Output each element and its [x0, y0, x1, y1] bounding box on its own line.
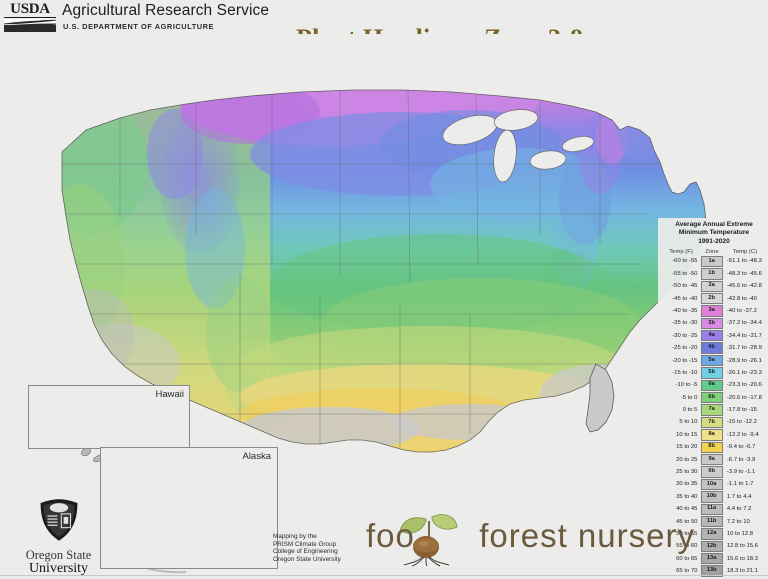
legend-temp-c: -6.7 to -3.9	[723, 457, 766, 463]
legend-zone-cell: 11b	[700, 516, 722, 527]
legend-temp-f: -10 to -5	[662, 382, 700, 388]
legend-temp-c: -37.2 to -34.4	[723, 320, 766, 326]
legend-temp-c: 15.6 to 18.3	[723, 556, 766, 562]
legend-row: 15 to 208b-9.4 to -6.7	[660, 441, 768, 453]
legend-zone-cell: 10b	[700, 491, 722, 502]
legend-temp-c: -20.6 to -17.8	[723, 395, 766, 401]
osu-name-line2: University	[6, 562, 111, 576]
legend-header-celsius: Temp (C)	[724, 249, 766, 255]
legend-temp-c: -9.4 to -6.7	[723, 444, 766, 450]
legend-row: -55 to -501b-48.3 to -45.6	[660, 268, 768, 280]
oregon-state-logo: Oregon State University	[6, 497, 111, 571]
legend-temp-c: -40 to -37.2	[723, 308, 766, 314]
legend-zone-swatch: 6a	[701, 380, 723, 391]
legend-row: -10 to -56a-23.3 to -20.6	[660, 379, 768, 391]
credit-line-4: Oregon State University	[273, 556, 341, 564]
legend-temp-c: -48.3 to -45.6	[723, 271, 766, 277]
hawaii-inset-box: Hawaii	[28, 385, 190, 449]
legend-temp-f: -25 to -20	[662, 345, 700, 351]
legend-temp-c: 18.3 to 21.1	[723, 568, 766, 574]
osu-shield-icon	[36, 497, 82, 543]
legend-temp-c: 4.4 to 7.2	[723, 506, 766, 512]
legend-temp-f: -45 to -40	[662, 296, 700, 302]
legend-temp-f: -40 to -35	[662, 308, 700, 314]
legend-zone-swatch: 1b	[701, 268, 723, 279]
legend-zone-swatch: 10b	[701, 491, 723, 502]
legend-row: -30 to -254a-34.4 to -31.7	[660, 330, 768, 342]
credit-line-1: Mapping by the	[273, 533, 341, 541]
legend-temp-f: 35 to 40	[662, 494, 700, 500]
legend-zone-cell: 8a	[700, 429, 722, 440]
legend-row: 5 to 107b-15 to -12.2	[660, 416, 768, 428]
usda-wordmark: USDA	[4, 2, 56, 18]
legend-zone-swatch: 2a	[701, 281, 723, 292]
legend-header-zone: Zone	[700, 249, 724, 255]
legend-zone-swatch: 12a	[701, 528, 723, 539]
legend-zone-swatch: 12b	[701, 541, 723, 552]
legend-zone-cell: 1a	[700, 256, 722, 267]
legend-zone-swatch: 9b	[701, 466, 723, 477]
legend-temp-c: 12.8 to 15.6	[723, 543, 766, 549]
legend-temp-c: -42.8 to -40	[723, 296, 766, 302]
legend-zone-swatch: 5b	[701, 367, 723, 378]
legend-zone-cell: 11a	[700, 504, 722, 515]
legend-zone-swatch: 4b	[701, 342, 723, 353]
legend-zone-cell: 12b	[700, 541, 722, 552]
legend-zone-swatch: 8a	[701, 429, 723, 440]
credit-line-2: PRISM Climate Group	[273, 541, 341, 549]
legend-zone-cell: 7a	[700, 404, 722, 415]
legend-row: -50 to -452a-45.6 to -42.8	[660, 280, 768, 292]
legend-zone-swatch: 8b	[701, 442, 723, 453]
legend-zone-cell: 3a	[700, 305, 722, 316]
legend-temp-c: -51.1 to -48.3	[723, 258, 766, 264]
legend-temp-f: -30 to -25	[662, 333, 700, 339]
legend-temp-c: 7.2 to 10	[723, 519, 766, 525]
legend-temp-c: -15 to -12.2	[723, 419, 766, 425]
legend-temp-f: 20 to 25	[662, 457, 700, 463]
legend-row: 20 to 259a-6.7 to -3.9	[660, 453, 768, 465]
legend-row: 10 to 158a-12.2 to -9.4	[660, 429, 768, 441]
hawaii-inset-label: Hawaii	[155, 389, 184, 400]
legend-zone-cell: 3b	[700, 318, 722, 329]
legend-zone-cell: 8b	[700, 442, 722, 453]
legend-temp-f: -60 to -55	[662, 258, 700, 264]
legend-row: -45 to -402b-42.8 to -40	[660, 292, 768, 304]
legend-header-fahrenheit: Temp (F)	[662, 249, 700, 255]
legend-zone-cell: 6b	[700, 392, 722, 403]
legend-temp-c: -34.4 to -31.7	[723, 333, 766, 339]
credit-line-3: College of Engineering	[273, 548, 341, 556]
legend-row: -25 to -204b-31.7 to -28.9	[660, 342, 768, 354]
legend-zone-swatch: 7b	[701, 417, 723, 428]
legend-row: -20 to -155a-28.9 to -26.1	[660, 354, 768, 366]
legend-temp-c: -12.2 to -9.4	[723, 432, 766, 438]
legend-row: 40 to 4511a4.4 to 7.2	[660, 503, 768, 515]
legend-row: -15 to -105b-26.1 to -23.3	[660, 367, 768, 379]
agency-subtitle: U.S. DEPARTMENT OF AGRICULTURE	[63, 22, 214, 31]
legend-zone-swatch: 7a	[701, 404, 723, 415]
legend-zone-swatch: 11a	[701, 504, 723, 515]
legend-zone-swatch: 13a	[701, 553, 723, 564]
legend-temp-c: 10 to 12.8	[723, 531, 766, 537]
legend-zone-cell: 1b	[700, 268, 722, 279]
legend-zone-swatch: 3a	[701, 305, 723, 316]
legend-temp-f: -35 to -30	[662, 320, 700, 326]
legend-row: 30 to 3510a-1.1 to 1.7	[660, 478, 768, 490]
legend-zone-cell: 9a	[700, 454, 722, 465]
legend-zone-swatch: 4a	[701, 330, 723, 341]
legend-zone-cell: 12a	[700, 528, 722, 539]
legend-zone-swatch: 1a	[701, 256, 723, 267]
alaska-inset-box: Alaska	[100, 447, 278, 569]
legend-title-line3: 1991-2020	[660, 238, 768, 246]
legend-zone-swatch: 2b	[701, 293, 723, 304]
usda-logo: USDA	[4, 2, 56, 32]
legend-row: 25 to 309b-3.9 to -1.1	[660, 466, 768, 478]
legend-zone-cell: 7b	[700, 417, 722, 428]
legend-zone-cell: 2b	[700, 293, 722, 304]
legend-temp-f: 5 to 10	[662, 419, 700, 425]
legend-title-line1: Average Annual Extreme	[660, 221, 768, 229]
legend-row: 60 to 6513a15.6 to 18.3	[660, 553, 768, 565]
food-forest-nursery-logo: foo forest nursery	[366, 505, 656, 567]
legend-temp-f: 0 to 5	[662, 407, 700, 413]
legend-zone-cell: 2a	[700, 281, 722, 292]
legend-temp-c: 1.7 to 4.4	[723, 494, 766, 500]
legend-title-line2: Minimum Temperature	[660, 229, 768, 237]
legend-zone-cell: 13a	[700, 553, 722, 564]
legend-zone-cell: 4a	[700, 330, 722, 341]
legend-zone-swatch: 9a	[701, 454, 723, 465]
legend-temp-c: -45.6 to -42.8	[723, 283, 766, 289]
legend-row: -60 to -551a-51.1 to -48.3	[660, 255, 768, 267]
legend-row: -35 to -303b-37.2 to -34.4	[660, 317, 768, 329]
plant-hardiness-map-page: USDA Agricultural Research Service U.S. …	[0, 0, 768, 576]
legend-row: -5 to 06b-20.6 to -17.8	[660, 392, 768, 404]
legend-zone-cell: 9b	[700, 466, 722, 477]
legend-zone-cell: 4b	[700, 342, 722, 353]
legend-zone-swatch: 6b	[701, 392, 723, 403]
brand-wordmark: foo forest nursery	[366, 517, 656, 561]
brand-word-part2: forest nursery	[479, 517, 695, 554]
legend-temp-c: -28.9 to -26.1	[723, 358, 766, 364]
legend-row: -40 to -353a-40 to -37.2	[660, 305, 768, 317]
legend-temp-f: 40 to 45	[662, 506, 700, 512]
legend-temp-f: -20 to -15	[662, 358, 700, 364]
alaska-inset-label: Alaska	[242, 451, 271, 462]
legend-temp-f: 30 to 35	[662, 481, 700, 487]
legend-zone-swatch: 3b	[701, 318, 723, 329]
legend-zone-swatch: 10a	[701, 479, 723, 490]
legend-row: 35 to 4010b1.7 to 4.4	[660, 491, 768, 503]
legend-column-headers: Temp (F) Zone Temp (C)	[660, 249, 768, 255]
prism-credit: Mapping by the PRISM Climate Group Colle…	[273, 533, 341, 563]
legend-zone-swatch: 5a	[701, 355, 723, 366]
legend-temp-c: -31.7 to -28.9	[723, 345, 766, 351]
legend-zone-swatch: 11b	[701, 516, 723, 527]
legend-row: 0 to 57a-17.8 to -15	[660, 404, 768, 416]
agency-title: Agricultural Research Service	[62, 2, 269, 20]
legend-temp-c: -23.3 to -20.6	[723, 382, 766, 388]
legend-temp-c: -17.8 to -15	[723, 407, 766, 413]
legend-temp-f: 10 to 15	[662, 432, 700, 438]
legend-zone-cell: 10a	[700, 479, 722, 490]
legend-temp-f: -55 to -50	[662, 271, 700, 277]
legend-temp-f: 65 to 70	[662, 568, 700, 574]
legend-temp-c: -3.9 to -1.1	[723, 469, 766, 475]
legend-temp-f: 25 to 30	[662, 469, 700, 475]
legend-temp-f: 15 to 20	[662, 444, 700, 450]
legend-zone-cell: 5b	[700, 367, 722, 378]
legend-temp-f: -15 to -10	[662, 370, 700, 376]
legend-temp-c: -1.1 to 1.7	[723, 481, 766, 487]
usda-landscape-icon	[4, 19, 56, 32]
brand-word-part1: foo	[366, 517, 415, 554]
legend-temp-c: -26.1 to -23.3	[723, 370, 766, 376]
legend-temp-f: 60 to 65	[662, 556, 700, 562]
legend-zone-cell: 6a	[700, 380, 722, 391]
legend-temp-f: -50 to -45	[662, 283, 700, 289]
legend-temp-f: -5 to 0	[662, 395, 700, 401]
legend-zone-cell: 5a	[700, 355, 722, 366]
